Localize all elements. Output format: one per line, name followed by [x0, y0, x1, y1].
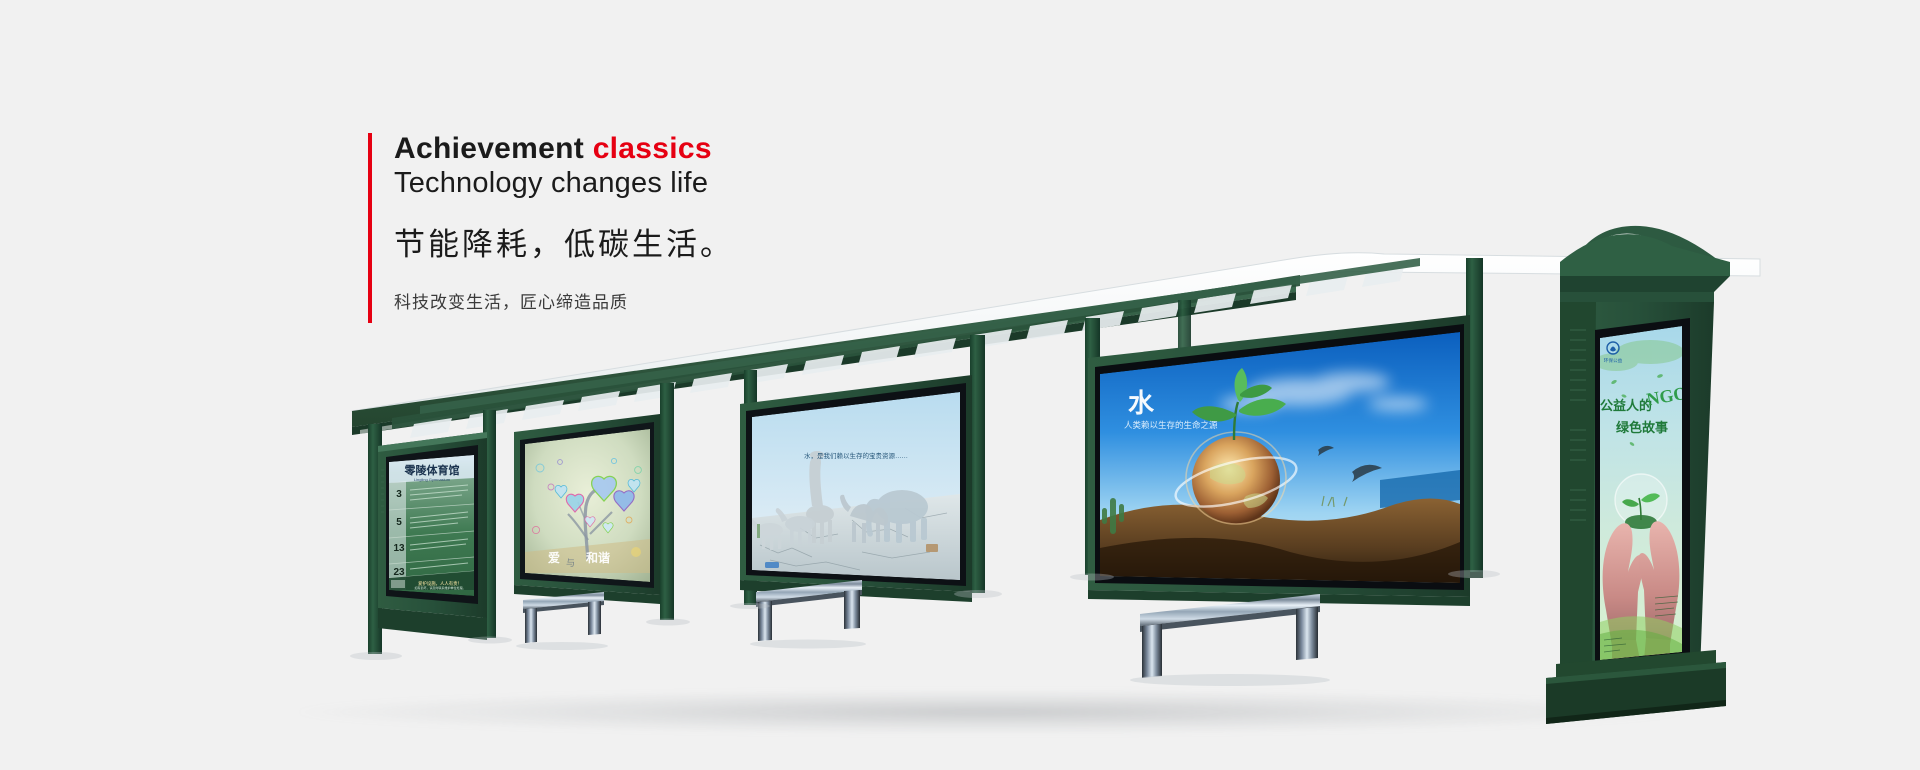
panel1-title-en: Lingling Gymnasium: [414, 477, 451, 482]
panel5-subline: 绿色故事: [1616, 420, 1668, 435]
panel3-caption: 水，是我们赖以生存的宝贵资源……: [804, 451, 908, 460]
panel-water-animals: 水，是我们赖以生存的宝贵资源……: [740, 375, 972, 602]
route-number-2: 5: [396, 517, 402, 528]
panel4-subline: 人类赖以生存的生命之源: [1124, 420, 1218, 430]
bench-3: [1130, 594, 1330, 686]
banner-stage: Achievement classics Technology changes …: [0, 0, 1920, 770]
panel2-headline-tail: 和谐: [585, 550, 610, 565]
panel2-headline: 爱: [548, 550, 560, 565]
panel5-logo: 环保公益: [1604, 357, 1623, 364]
panel-love-harmony: 爱 与 和谐: [514, 414, 660, 604]
panel2-headline-mid: 与: [566, 558, 575, 568]
bus-shelter: 零陵体育馆 Lingling Gymnasium 3 5 13 23: [0, 0, 1920, 770]
shelter-canopy: [352, 253, 1760, 435]
bench-1: [516, 592, 608, 650]
panel1-title-cn: 零陵体育馆: [404, 463, 460, 477]
post-5: [970, 335, 985, 593]
panel-water-source: 水 人类赖以生存的生命之源: [1088, 315, 1470, 606]
route-number-4: 23: [393, 567, 405, 578]
panel-route-info: 零陵体育馆 Lingling Gymnasium 3 5 13 23: [378, 432, 487, 640]
route-number-3: 13: [393, 543, 405, 554]
post-3: [660, 383, 674, 620]
panel5-headline: 公益人的: [1600, 398, 1652, 413]
panel4-headline: 水: [1128, 389, 1155, 418]
pillar-lightbox: 环保公益 公益人的 NGO 绿色故事: [1546, 226, 1730, 724]
route-number-1: 3: [396, 489, 402, 500]
panel1-footer-sub: 如有损坏，请及时联系维护单位处理。: [414, 585, 465, 590]
